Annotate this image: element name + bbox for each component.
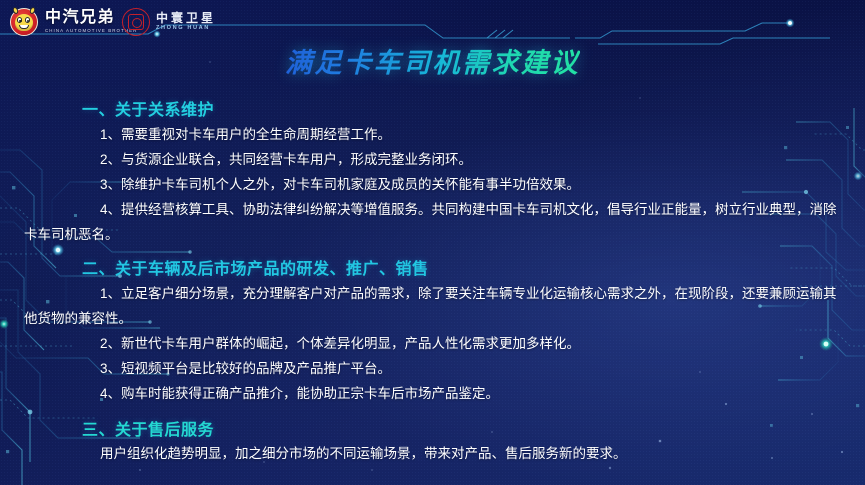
presentation-slide: 中汽兄弟 CHINA AUTOMOTIVE BROTHER 中寰卫星 ZHONG… (0, 0, 865, 485)
section-1-item-4: 4、提供经营核算工具、协助法律纠纷解决等增值服务。共同构建中国卡车司机文化，倡导… (0, 197, 865, 247)
section-heading-1: 一、关于关系维护 (82, 96, 865, 120)
seal-stamp-icon (122, 8, 150, 36)
brand2-name-en: ZHONG HUAN (156, 26, 216, 32)
section-1-item-3: 3、除维护卡车司机个人之外，对卡车司机家庭及成员的关怀能有事半功倍效果。 (0, 172, 865, 197)
section-heading-3: 三、关于售后服务 (82, 416, 865, 440)
brand2-name-cn: 中寰卫星 (156, 12, 216, 24)
page-title: 满足卡车司机需求建议 (285, 41, 580, 80)
slide-content: 一、关于关系维护 1、需要重视对卡车用户的全生命周期经营工作。 2、与货源企业联… (0, 96, 865, 466)
section-1-item-1: 1、需要重视对卡车用户的全生命周期经营工作。 (0, 122, 865, 147)
slide-header: 中汽兄弟 CHINA AUTOMOTIVE BROTHER 中寰卫星 ZHONG… (0, 0, 865, 40)
section-heading-2: 二、关于车辆及后市场产品的研发、推广、销售 (82, 255, 865, 279)
brand-logo-primary: 中汽兄弟 CHINA AUTOMOTIVE BROTHER (10, 8, 137, 36)
section-2-item-2: 2、新世代卡车用户群体的崛起，个体差异化明显，产品人性化需求更加多样化。 (0, 331, 865, 356)
section-1-item-2: 2、与货源企业联合，共同经营卡车用户，形成完整业务闭环。 (0, 147, 865, 172)
section-2-item-1: 1、立足客户细分场景，充分理解客户对产品的需求，除了要关注车辆专业化运输核心需求… (0, 281, 865, 331)
slide-title-area: 满足卡车司机需求建议 (0, 41, 865, 80)
section-2-item-4: 4、购车时能获得正确产品推介，能协助正宗卡车后市场产品鉴定。 (0, 381, 865, 406)
section-2-item-3: 3、短视频平台是比较好的品牌及产品推广平台。 (0, 356, 865, 381)
mascot-logo-icon (10, 8, 38, 36)
brand-logo-secondary: 中寰卫星 ZHONG HUAN (122, 8, 216, 36)
section-3-item-1: 用户组织化趋势明显，加之细分市场的不同运输场景，带来对产品、售后服务新的要求。 (0, 441, 865, 466)
